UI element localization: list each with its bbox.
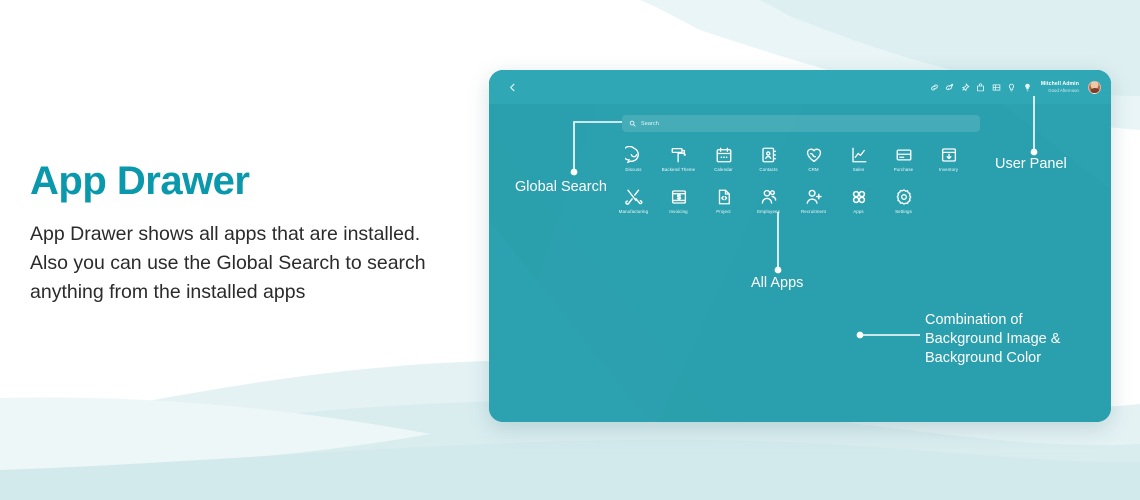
annotation-label: All Apps [751,274,803,293]
paint-roller-icon [670,146,688,164]
app-label: Settings [895,210,912,214]
app-label: Apps [853,210,864,214]
annotation-global-search: Global Search [515,178,607,197]
app-row-2: Manufacturing Invoicing [611,188,991,214]
annotation-background: Combination of Background Image & Backgr… [925,311,1060,368]
card-icon [895,146,913,164]
app-backend-theme[interactable]: Backend Theme [656,146,701,172]
app-label: Sales [853,168,865,172]
app-label: Contacts [759,168,777,172]
gear-icon [895,188,913,206]
app-label: Manufacturing [619,210,648,214]
app-project[interactable]: Project [701,188,746,214]
calendar-icon [715,146,733,164]
app-label: Invoicing [669,210,687,214]
heart-icon [805,146,823,164]
app-employees[interactable]: Employees [746,188,791,214]
inventory-box-icon [940,146,958,164]
app-contacts[interactable]: Contacts [746,146,791,172]
app-apps[interactable]: Apps [836,188,881,214]
contacts-icon [760,146,778,164]
sales-chart-icon [850,146,868,164]
app-drawer-panel: Mitchell Admin Good Afternoon Search Dis… [489,70,1111,422]
employees-icon [760,188,778,206]
app-discuss[interactable]: Discuss [611,146,656,172]
tools-icon [625,188,643,206]
annotation-all-apps: All Apps [751,274,803,293]
app-inventory[interactable]: Inventory [926,146,971,172]
bulb-icon[interactable] [1023,83,1032,92]
app-settings[interactable]: Settings [881,188,926,214]
intro-copy: App Drawer App Drawer shows all apps tha… [30,160,430,307]
app-sales[interactable]: Sales [836,146,881,172]
code-file-icon [715,188,733,206]
link-icon[interactable] [930,83,939,92]
page-title: App Drawer [30,160,430,202]
search-input[interactable]: Search [622,115,980,132]
annotation-label: Combination of Background Image & Backgr… [925,311,1060,368]
app-label: Recruitment [801,210,826,214]
annotation-label: User Panel [995,155,1067,174]
app-label: CRM [808,168,818,172]
app-label: Calendar [714,168,733,172]
app-label: Project [716,210,731,214]
user-greeting: Good Afternoon [1041,88,1079,93]
app-grid: Discuss Backend Theme [611,146,991,215]
app-manufacturing[interactable]: Manufacturing [611,188,656,214]
invoice-dollar-icon [670,188,688,206]
grid-icon[interactable] [992,83,1001,92]
avatar[interactable] [1088,81,1101,94]
app-calendar[interactable]: Calendar [701,146,746,172]
search-placeholder: Search [641,121,659,127]
discuss-icon [625,146,643,164]
annotation-user-panel: User Panel [995,155,1067,174]
pin-icon[interactable] [961,83,970,92]
page-description: App Drawer shows all apps that are insta… [30,220,430,307]
chevron-left-icon[interactable] [505,79,519,95]
app-purchase[interactable]: Purchase [881,146,926,172]
app-crm[interactable]: CRM [791,146,836,172]
app-label: Purchase [894,168,914,172]
apps-grid-icon [850,188,868,206]
screenshot-root: App Drawer App Drawer shows all apps tha… [0,0,1140,500]
user-meta[interactable]: Mitchell Admin Good Afternoon [1041,81,1079,93]
app-label: Employees [757,210,780,214]
bulb-outline-icon[interactable] [1007,83,1016,92]
link-badge-icon[interactable] [945,83,954,92]
app-label: Discuss [625,168,641,172]
app-recruitment[interactable]: Recruitment [791,188,836,214]
bag-icon[interactable] [976,83,985,92]
app-invoicing[interactable]: Invoicing [656,188,701,214]
system-icons [930,83,1032,92]
app-label: Inventory [939,168,958,172]
annotation-label: Global Search [515,178,607,197]
app-label: Backend Theme [662,168,695,172]
app-row-1: Discuss Backend Theme [611,146,991,172]
search-icon [629,120,636,127]
user-plus-icon [805,188,823,206]
user-panel[interactable]: Mitchell Admin Good Afternoon [930,76,1101,98]
